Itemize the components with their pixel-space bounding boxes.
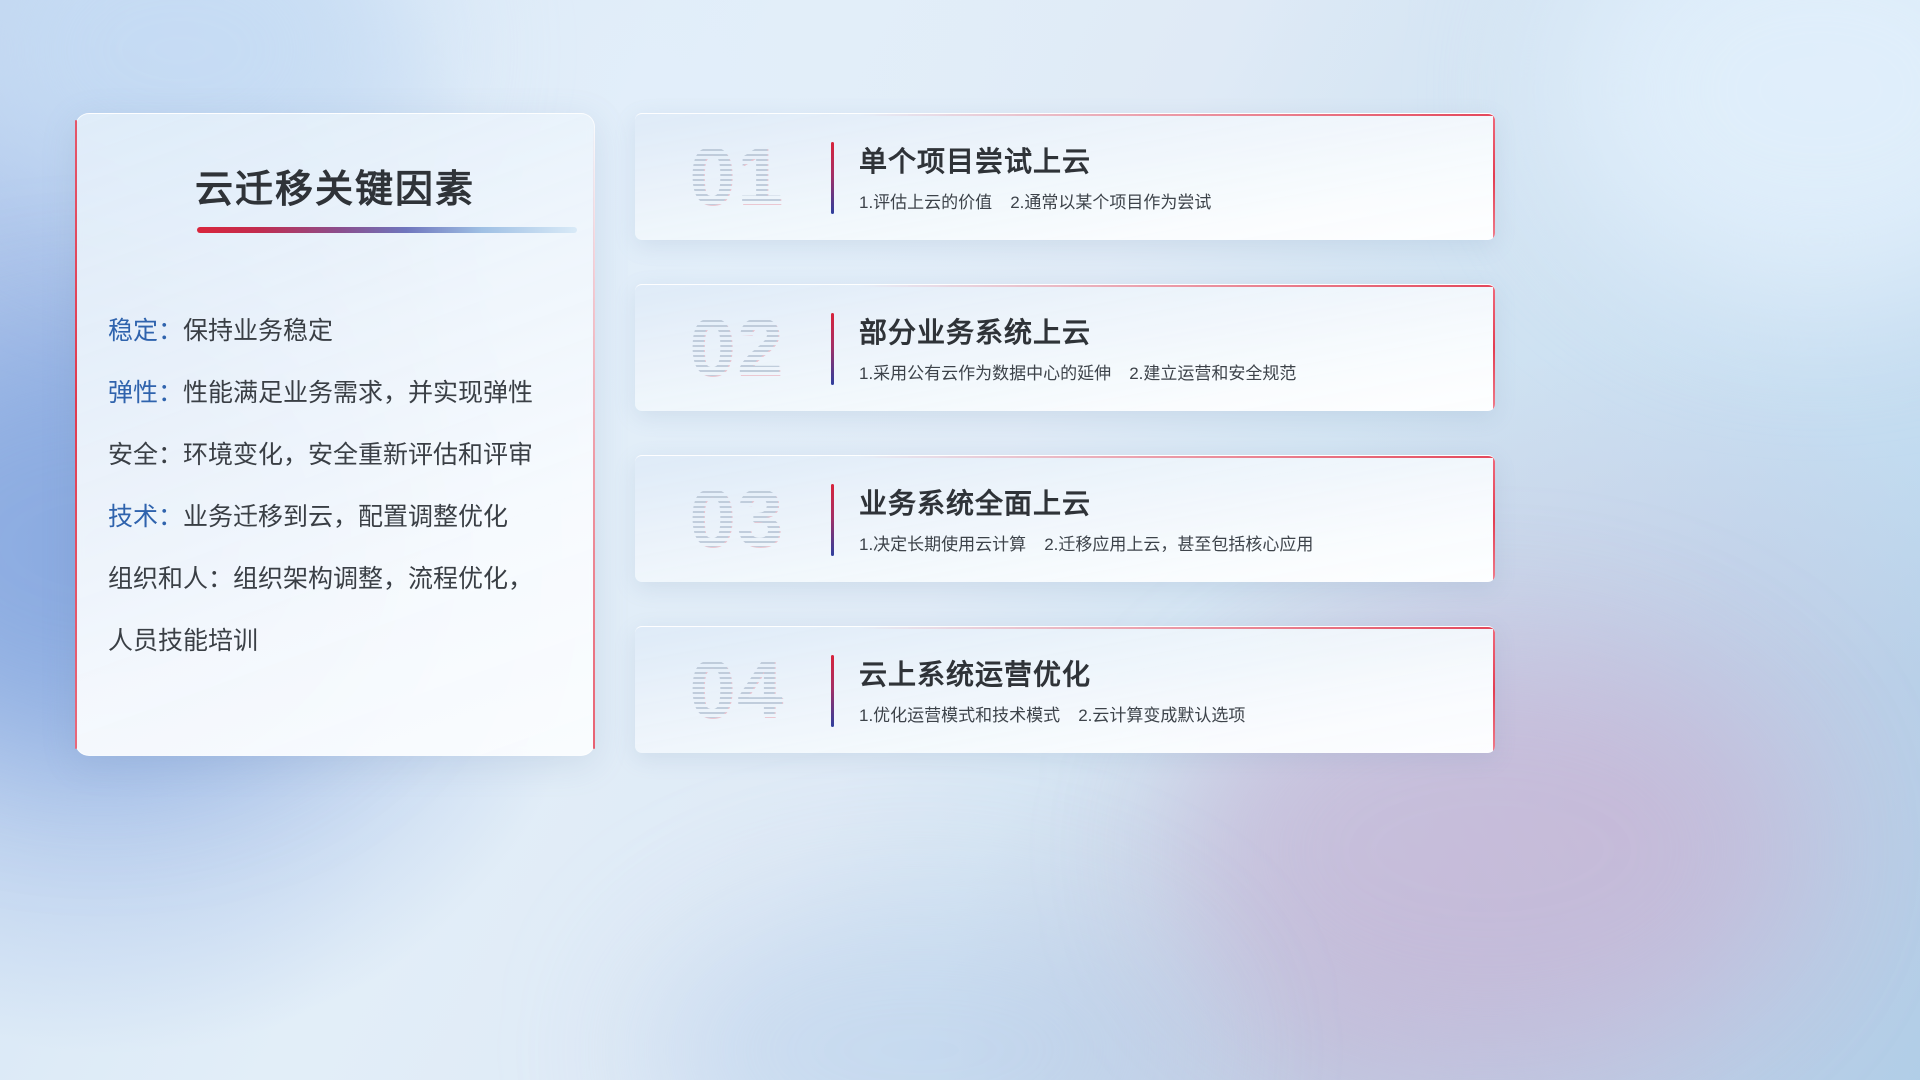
background-bloom: [640, 900, 1200, 1080]
stage-card[interactable]: 0404 云上系统运营优化 1.优化运营模式和技术模式2.云计算变成默认选项: [635, 626, 1495, 753]
stage-point: 1.评估上云的价值: [859, 193, 992, 212]
key-factor-item: 人员技能培训: [108, 610, 572, 672]
key-factor-label: 技术：: [108, 503, 183, 531]
stage-points: 1.优化运营模式和技术模式2.云计算变成默认选项: [859, 701, 1245, 726]
stage-number-watermark: 0404: [657, 637, 817, 743]
stage-accent-bar: [831, 655, 834, 727]
stage-point: 2.通常以某个项目作为尝试: [1010, 193, 1211, 212]
key-factor-label: 组织和人：: [108, 565, 233, 593]
key-factor-item: 安全：环境变化，安全重新评估和评审: [108, 424, 572, 486]
stage-card[interactable]: 0202 部分业务系统上云 1.采用公有云作为数据中心的延伸2.建立运营和安全规…: [635, 284, 1495, 411]
stage-card[interactable]: 0303 业务系统全面上云 1.决定长期使用云计算2.迁移应用上云，甚至包括核心…: [635, 455, 1495, 582]
stage-points: 1.决定长期使用云计算2.迁移应用上云，甚至包括核心应用: [859, 530, 1313, 555]
stage-point: 1.优化运营模式和技术模式: [859, 706, 1060, 725]
page-title: 云迁移关键因素: [76, 158, 594, 213]
stage-accent-bar: [831, 142, 834, 214]
stage-point: 1.采用公有云作为数据中心的延伸: [859, 364, 1111, 383]
key-factor-item: 组织和人：组织架构调整，流程优化，: [108, 548, 572, 610]
key-factor-text: 保持业务稳定: [183, 317, 333, 345]
stage-number-watermark: 0101: [657, 124, 817, 230]
key-factor-item: 技术：业务迁移到云，配置调整优化: [108, 486, 572, 548]
stage-card[interactable]: 0101 单个项目尝试上云 1.评估上云的价值2.通常以某个项目作为尝试: [635, 113, 1495, 240]
key-factor-text: 人员技能培训: [108, 627, 258, 655]
stage-number-watermark: 0202: [657, 295, 817, 401]
key-factor-label: 安全：: [108, 441, 183, 469]
key-factor-label: 弹性：: [108, 379, 183, 407]
stage-title: 云上系统运营优化: [859, 653, 1091, 693]
stage-point: 2.迁移应用上云，甚至包括核心应用: [1044, 535, 1313, 554]
background-bloom: [1560, 0, 1920, 300]
key-factor-text: 组织架构调整，流程优化，: [233, 565, 533, 593]
stage-points: 1.评估上云的价值2.通常以某个项目作为尝试: [859, 188, 1211, 213]
stage-title: 部分业务系统上云: [859, 311, 1091, 351]
key-factors-panel: 云迁移关键因素 稳定：保持业务稳定弹性：性能满足业务需求，并实现弹性安全：环境变…: [75, 113, 595, 756]
stage-points: 1.采用公有云作为数据中心的延伸2.建立运营和安全规范: [859, 359, 1296, 384]
key-factor-item: 稳定：保持业务稳定: [108, 300, 572, 362]
key-factor-text: 性能满足业务需求，并实现弹性: [183, 379, 533, 407]
stage-title: 业务系统全面上云: [859, 482, 1091, 522]
slide-canvas: 云迁移关键因素 稳定：保持业务稳定弹性：性能满足业务需求，并实现弹性安全：环境变…: [0, 0, 1920, 1080]
key-factor-label: 稳定：: [108, 317, 183, 345]
stage-point: 2.云计算变成默认选项: [1078, 706, 1245, 725]
stage-accent-bar: [831, 484, 834, 556]
stage-accent-bar: [831, 313, 834, 385]
stage-point: 2.建立运营和安全规范: [1129, 364, 1296, 383]
title-underline-gradient: [197, 227, 577, 233]
stage-title: 单个项目尝试上云: [859, 140, 1091, 180]
key-factor-text: 业务迁移到云，配置调整优化: [183, 503, 508, 531]
stage-number-watermark: 0303: [657, 466, 817, 572]
stage-point: 1.决定长期使用云计算: [859, 535, 1026, 554]
key-factors-list: 稳定：保持业务稳定弹性：性能满足业务需求，并实现弹性安全：环境变化，安全重新评估…: [108, 300, 572, 672]
key-factor-item: 弹性：性能满足业务需求，并实现弹性: [108, 362, 572, 424]
key-factor-text: 环境变化，安全重新评估和评审: [183, 441, 533, 469]
